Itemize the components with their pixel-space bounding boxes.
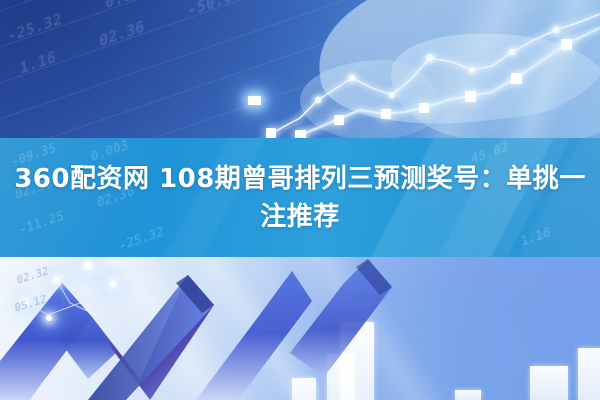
page-title-line-1: 360配资网 108期曾哥排列三预测奖号：单挑一 [14, 160, 586, 198]
zigzag-arrow-graphic [0, 257, 600, 400]
chart-node-markers [295, 39, 572, 141]
sparkle-icon [46, 315, 52, 321]
chart-line-series [272, 14, 600, 135]
sparkle-icon [54, 277, 60, 283]
banner-title: 360配资网 108期曾哥排列三预测奖号：单挑一 注推荐 [0, 138, 600, 258]
arrow-segment [196, 271, 312, 400]
bottom-background-panel: 02.32 05.12 [0, 257, 600, 400]
sparkle-icon [84, 262, 92, 270]
banner-image: -11.25+5.02-02.3621.368.11 -09.35-11.25+… [0, 0, 600, 400]
lamp-glow-icon [248, 96, 261, 105]
page-title-line-2: 注推荐 [260, 198, 340, 236]
chart-point-markers [315, 27, 559, 103]
sparkle-icon [110, 281, 116, 287]
